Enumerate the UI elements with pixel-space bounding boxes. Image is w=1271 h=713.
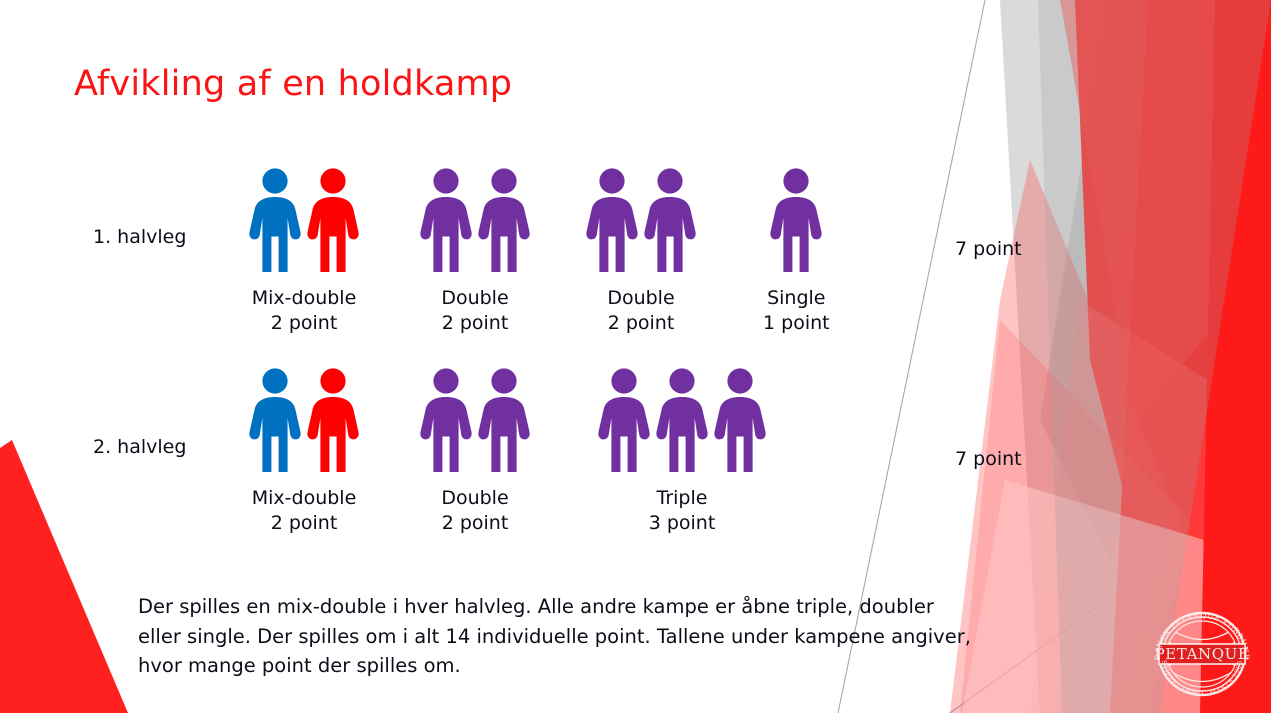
match-group: Mix-double 2 point bbox=[246, 166, 362, 336]
match-caption: Double 2 point bbox=[441, 486, 508, 536]
figure-group bbox=[417, 166, 533, 276]
match-caption: Mix-double 2 point bbox=[252, 486, 357, 536]
slide: Afvikling af en holdkamp 1. halvleg 2. h… bbox=[0, 0, 1271, 713]
person-icon-red bbox=[304, 166, 362, 276]
figure-group bbox=[767, 166, 825, 276]
person-icon-purple bbox=[583, 166, 641, 276]
match-points: 2 point bbox=[252, 311, 357, 336]
match-name: Single bbox=[763, 286, 830, 311]
figure-group bbox=[246, 366, 362, 476]
match-group: Double 2 point bbox=[417, 366, 533, 536]
person-icon-purple bbox=[417, 366, 475, 476]
deco-gray-2 bbox=[1040, 0, 1271, 560]
match-caption: Double 2 point bbox=[441, 286, 508, 336]
match-points: 1 point bbox=[763, 311, 830, 336]
match-points: 2 point bbox=[441, 511, 508, 536]
match-points: 3 point bbox=[649, 511, 716, 536]
half-total-second: 7 point bbox=[955, 448, 1022, 470]
deco-left-red-wedge bbox=[0, 440, 128, 713]
deco-red-wash-5 bbox=[1060, 0, 1271, 420]
match-caption: Double 2 point bbox=[607, 286, 674, 336]
person-icon-blue bbox=[246, 366, 304, 476]
match-group: Double 2 point bbox=[417, 166, 533, 336]
person-icon-purple bbox=[641, 166, 699, 276]
match-name: Double bbox=[441, 286, 508, 311]
match-caption: Single 1 point bbox=[763, 286, 830, 336]
match-group: Triple 3 point bbox=[595, 366, 769, 536]
figure-group bbox=[246, 166, 362, 276]
figure-group bbox=[417, 366, 533, 476]
person-icon-purple bbox=[417, 166, 475, 276]
person-icon-purple bbox=[711, 366, 769, 476]
match-group: Double 2 point bbox=[583, 166, 699, 336]
match-caption: Mix-double 2 point bbox=[252, 286, 357, 336]
person-icon-purple bbox=[653, 366, 711, 476]
match-group: Single 1 point bbox=[763, 166, 830, 336]
match-name: Mix-double bbox=[252, 286, 357, 311]
figure-group bbox=[583, 166, 699, 276]
person-icon-purple bbox=[595, 366, 653, 476]
match-points: 2 point bbox=[607, 311, 674, 336]
person-icon-red bbox=[304, 366, 362, 476]
petanque-logo: PETANQUE DANSK PETANQUE FORBUND STIFTET … bbox=[1146, 606, 1258, 702]
half-label-second: 2. halvleg bbox=[93, 436, 186, 458]
match-caption: Triple 3 point bbox=[649, 486, 716, 536]
logo-center-text: PETANQUE bbox=[1155, 645, 1250, 663]
page-title: Afvikling af en holdkamp bbox=[74, 64, 512, 104]
person-icon-blue bbox=[246, 166, 304, 276]
match-name: Double bbox=[441, 486, 508, 511]
description-paragraph: Der spilles en mix-double i hver halvleg… bbox=[138, 592, 973, 681]
match-name: Triple bbox=[649, 486, 716, 511]
match-name: Double bbox=[607, 286, 674, 311]
figure-group bbox=[595, 366, 769, 476]
person-icon-purple bbox=[767, 166, 825, 276]
logo-bottom-text: STIFTET DEN 1. MARTS 1965 bbox=[1160, 660, 1244, 698]
person-icon-purple bbox=[475, 366, 533, 476]
match-name: Mix-double bbox=[252, 486, 357, 511]
half-total-first: 7 point bbox=[955, 238, 1022, 260]
match-points: 2 point bbox=[252, 511, 357, 536]
half-label-first: 1. halvleg bbox=[93, 226, 186, 248]
match-group: Mix-double 2 point bbox=[246, 366, 362, 536]
match-points: 2 point bbox=[441, 311, 508, 336]
person-icon-purple bbox=[475, 166, 533, 276]
